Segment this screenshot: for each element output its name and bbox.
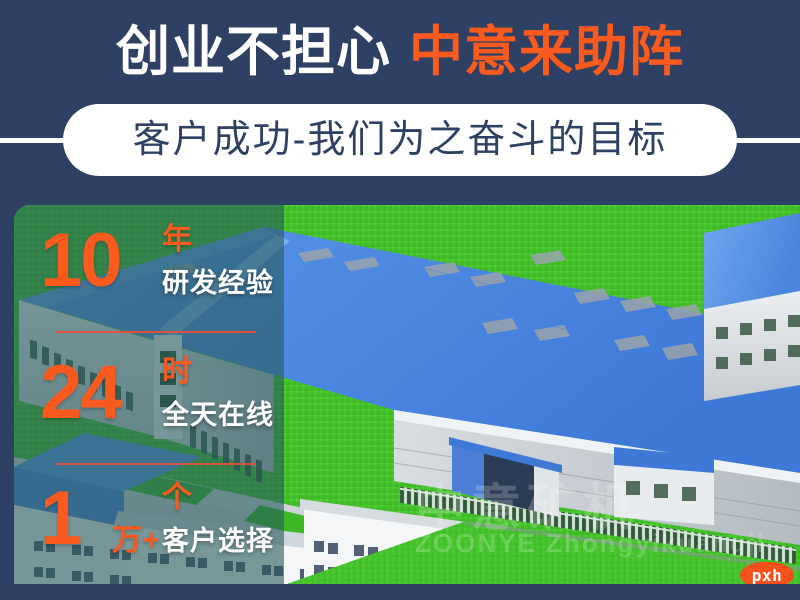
stat-caption: 客户选择 bbox=[162, 525, 274, 557]
stat-divider-2 bbox=[56, 463, 256, 465]
stats-overlay-panel: 10 年 研发经验 24 时 全天在线 1 万+ 个 客户选择 bbox=[14, 205, 284, 585]
stat-divider-1 bbox=[56, 331, 256, 333]
subtitle-band: 客户成功-我们为之奋斗的目标 bbox=[0, 104, 800, 176]
subtitle-pill: 客户成功-我们为之奋斗的目标 bbox=[63, 104, 737, 176]
stat-number-suffix: 万+ bbox=[112, 525, 160, 557]
headline-white-text: 创业不担心 bbox=[116, 22, 391, 82]
promo-banner: 创业不担心中意来助阵 客户成功-我们为之奋斗的目标 bbox=[0, 0, 800, 600]
stat-caption: 研发经验 bbox=[162, 267, 274, 299]
stat-number: 1 bbox=[40, 477, 80, 561]
pxh-badge-label: pxh bbox=[752, 566, 782, 585]
stat-unit: 个 bbox=[162, 481, 192, 515]
stat-unit: 年 bbox=[162, 223, 192, 257]
stat-caption: 全天在线 bbox=[162, 399, 274, 431]
stat-item-0: 10 年 研发经验 bbox=[14, 219, 284, 323]
stat-item-2: 1 万+ 个 客户选择 bbox=[14, 477, 284, 577]
stat-unit: 时 bbox=[162, 355, 192, 389]
stat-number: 24 bbox=[40, 351, 121, 435]
page-title: 创业不担心中意来助阵 bbox=[0, 22, 800, 82]
subtitle-text: 客户成功-我们为之奋斗的目标 bbox=[133, 118, 668, 162]
bottom-bar bbox=[0, 584, 800, 600]
stat-number: 10 bbox=[40, 219, 121, 303]
headline-orange-text: 中意来助阵 bbox=[409, 22, 684, 82]
stat-item-1: 24 时 全天在线 bbox=[14, 351, 284, 451]
